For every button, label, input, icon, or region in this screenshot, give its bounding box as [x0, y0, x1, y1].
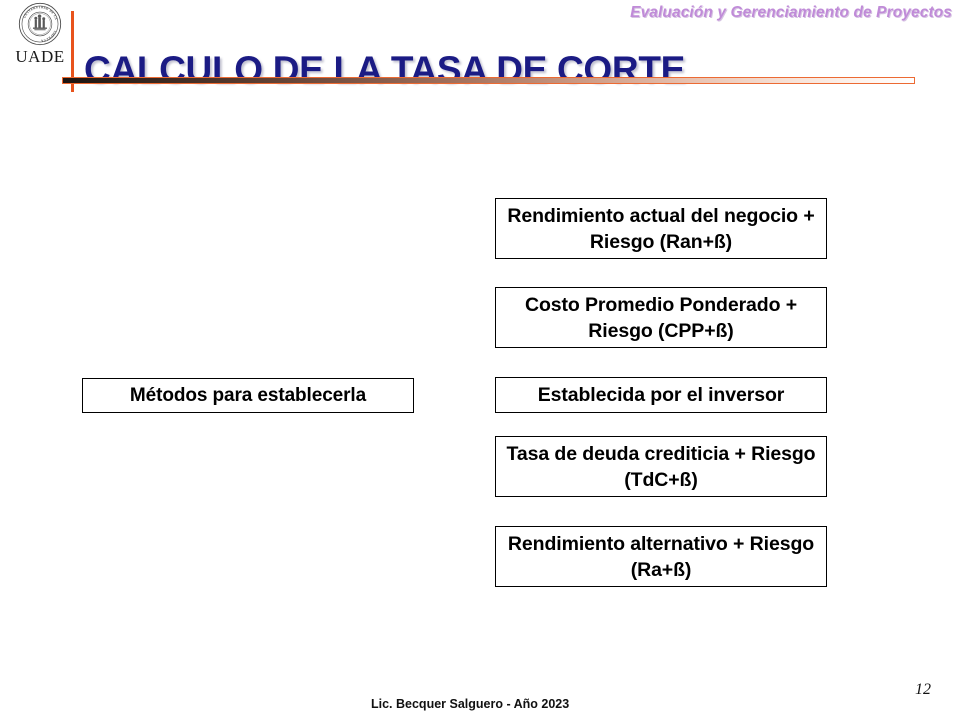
slide-page-number: 12 — [915, 681, 931, 699]
method-box-rendimiento-alternativo: Rendimiento alternativo + Riesgo (Ra+ß) — [495, 526, 827, 587]
method-box-rendimiento-actual: Rendimiento actual del negocio + Riesgo … — [495, 198, 827, 259]
methods-diagram: Métodos para establecerla Rendimiento ac… — [0, 0, 961, 720]
method-box-tasa-deuda-crediticia: Tasa de deuda crediticia + Riesgo (TdC+ß… — [495, 436, 827, 497]
diagram-left-box: Métodos para establecerla — [82, 378, 414, 413]
method-box-costo-promedio-ponderado: Costo Promedio Ponderado + Riesgo (CPP+ß… — [495, 287, 827, 348]
method-box-establecida-por-inversor: Establecida por el inversor — [495, 377, 827, 413]
footer-credit: Lic. Becquer Salguero - Año 2023 — [371, 697, 569, 711]
